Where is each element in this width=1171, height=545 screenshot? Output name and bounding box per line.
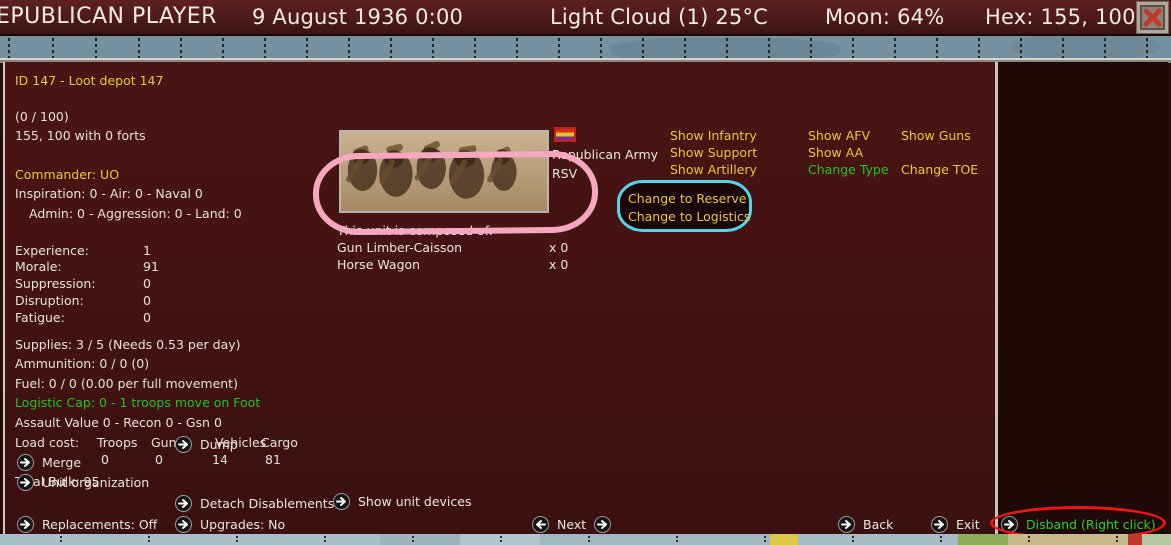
- arrow-right-icon[interactable]: [594, 516, 611, 533]
- action-label: Unit organization: [42, 475, 149, 490]
- menu-change-toe[interactable]: Change TOE: [901, 162, 978, 177]
- stat-label: Disruption:: [15, 295, 84, 308]
- stat-label: Suppression:: [15, 278, 96, 291]
- arrow-right-icon: [838, 516, 855, 533]
- arrow-right-icon: [931, 516, 948, 533]
- arrow-right-icon: [175, 495, 192, 512]
- menu-show-guns[interactable]: Show Guns: [901, 128, 971, 143]
- top-status-bar: EPUBLICAN PLAYER 9 August 1936 0:00 Ligh…: [0, 0, 1171, 36]
- action-dump[interactable]: Dump: [175, 436, 238, 453]
- composition-title: This unit is composed of:: [337, 223, 585, 240]
- unit-detail-panel: ID 147 - Loot depot 147 (0 / 100) 155, 1…: [3, 62, 1168, 534]
- menu-change-to-reserve[interactable]: Change to Reserve: [628, 191, 747, 206]
- menu-show-support[interactable]: Show Support: [670, 145, 757, 160]
- stat-label: Fatigue:: [15, 312, 65, 325]
- composition-item: Horse Wagon x 0: [337, 257, 585, 274]
- unit-portrait-image: [339, 130, 549, 213]
- action-exit[interactable]: Exit: [931, 516, 980, 533]
- stat-value: 0: [143, 295, 151, 308]
- close-icon: [1140, 5, 1165, 30]
- action-label: Back: [863, 517, 893, 532]
- composition-item-qty: x 0: [549, 257, 568, 274]
- load-cost-label: Load cost:: [15, 437, 79, 450]
- menu-change-type[interactable]: Change Type: [808, 162, 889, 177]
- action-label: Dump: [200, 437, 238, 452]
- load-cost-val-troops: 0: [101, 454, 109, 467]
- menu-show-artillery[interactable]: Show Artillery: [670, 162, 757, 177]
- close-button[interactable]: [1136, 1, 1169, 34]
- ammunition-line: Ammunition: 0 / 0 (0): [15, 358, 345, 375]
- load-cost-val-vehicles: 14: [212, 454, 228, 467]
- action-upgrades[interactable]: Upgrades: No: [175, 516, 285, 533]
- action-replacements[interactable]: Replacements: Off: [17, 516, 157, 533]
- hex-coordinates: Hex: 155, 100: [985, 5, 1136, 29]
- action-label: Show unit devices: [358, 494, 471, 509]
- menu-show-afv[interactable]: Show AFV: [808, 128, 870, 143]
- action-next[interactable]: Next: [532, 516, 611, 533]
- player-label: EPUBLICAN PLAYER: [0, 4, 217, 29]
- change-posture-box: [617, 180, 752, 232]
- composition-item-name: Gun Limber-Caisson: [337, 240, 462, 255]
- composition-item: Gun Limber-Caisson x 0: [337, 240, 585, 257]
- action-label: Merge: [42, 455, 81, 470]
- action-label: Upgrades: No: [200, 517, 285, 532]
- composition-item-name: Horse Wagon: [337, 257, 420, 272]
- logistic-cap-line: Logistic Cap: 0 - 1 troops move on Foot: [15, 397, 345, 414]
- game-date: 9 August 1936 0:00: [252, 5, 463, 29]
- inspiration-stats: Inspiration: 0 - Air: 0 - Naval 0: [15, 188, 345, 205]
- spanish-republican-flag-icon: [554, 127, 576, 142]
- stat-value: 1: [143, 245, 151, 258]
- map-strip-bottom[interactable]: [0, 534, 1171, 545]
- stat-label: Morale:: [15, 261, 62, 274]
- action-label: Replacements: Off: [42, 517, 157, 532]
- load-cost-val-guns: 0: [155, 454, 163, 467]
- action-disband[interactable]: Disband (Right click): [1001, 516, 1156, 533]
- arrow-right-icon: [1001, 516, 1018, 533]
- arrow-right-icon: [17, 474, 34, 491]
- unit-composition-block: This unit is composed of: Gun Limber-Cai…: [337, 223, 585, 274]
- unit-location: 155, 100 with 0 forts: [15, 130, 345, 147]
- menu-change-to-logistics[interactable]: Change to Logistics: [628, 209, 750, 224]
- action-unit-organization[interactable]: Unit organization: [17, 474, 149, 491]
- stat-value: 0: [143, 312, 151, 325]
- moon-phase: Moon: 64%: [825, 5, 944, 29]
- stat-value: 0: [143, 278, 151, 291]
- saluting-soldiers-photo: [341, 132, 547, 211]
- panel-right-empty-area: [995, 62, 1168, 534]
- action-label: Disband (Right click): [1026, 517, 1156, 532]
- assault-value-line: Assault Value 0 - Recon 0 - Gsn 0: [15, 417, 345, 434]
- action-detach-disablements[interactable]: Detach Disablements: [175, 495, 334, 512]
- stat-value: 91: [143, 261, 159, 274]
- menu-show-aa[interactable]: Show AA: [808, 145, 863, 160]
- supplies-line: Supplies: 3 / 5 (Needs 0.53 per day): [15, 339, 345, 356]
- commander-label: Commander: UO: [15, 169, 345, 186]
- stat-row: Fatigue: 0: [15, 312, 345, 329]
- admin-stats: Admin: 0 - Aggression: 0 - Land: 0: [15, 208, 345, 225]
- unit-strength: (0 / 100): [15, 111, 345, 128]
- action-label: Detach Disablements: [200, 496, 334, 511]
- composition-item-qty: x 0: [549, 240, 568, 257]
- action-back[interactable]: Back: [838, 516, 893, 533]
- arrow-right-icon: [175, 436, 192, 453]
- fuel-line: Fuel: 0 / 0 (0.00 per full movement): [15, 378, 345, 395]
- arrow-right-icon: [175, 516, 192, 533]
- action-merge[interactable]: Merge: [17, 454, 81, 471]
- game-window: EPUBLICAN PLAYER 9 August 1936 0:00 Ligh…: [0, 0, 1171, 545]
- unit-info-column: ID 147 - Loot depot 147 (0 / 100) 155, 1…: [15, 75, 345, 492]
- menu-show-infantry[interactable]: Show Infantry: [670, 128, 757, 143]
- stat-label: Experience:: [15, 245, 89, 258]
- action-label: Next: [557, 517, 586, 532]
- action-label: Exit: [956, 517, 980, 532]
- arrow-left-icon[interactable]: [532, 516, 549, 533]
- arrow-right-icon: [17, 516, 34, 533]
- load-cost-val-cargo: 81: [265, 454, 281, 467]
- army-name-label: Republican Army: [552, 147, 658, 162]
- unit-id-label: ID 147 - Loot depot 147: [15, 75, 345, 92]
- stat-row: Experience: 1: [15, 245, 345, 262]
- arrow-right-icon: [17, 454, 34, 471]
- army-abbreviation-label: RSV: [552, 166, 577, 181]
- action-show-unit-devices[interactable]: Show unit devices: [333, 493, 471, 510]
- weather-status: Light Cloud (1) 25°C: [550, 5, 768, 29]
- load-cost-col-cargo: Cargo: [261, 437, 298, 450]
- load-cost-col-troops: Troops: [97, 437, 137, 450]
- arrow-right-icon: [333, 493, 350, 510]
